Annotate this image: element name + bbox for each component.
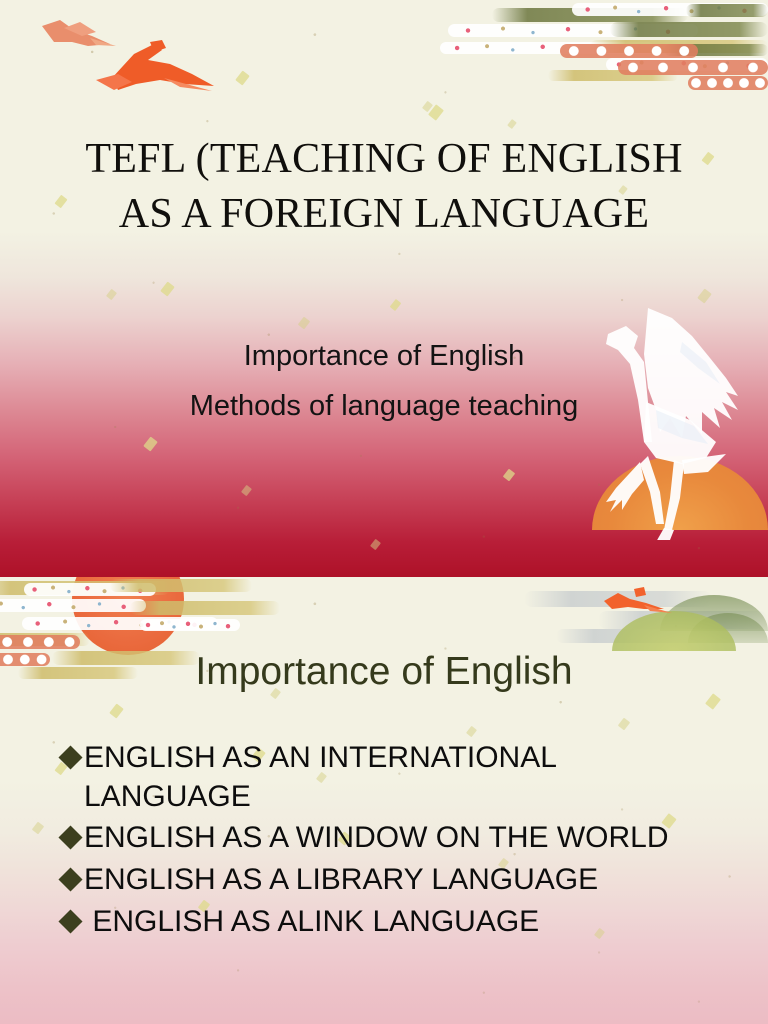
subtitle-line-2: Methods of language teaching xyxy=(0,382,768,432)
bullet-list: ENGLISH AS AN INTERNATIONAL LANGUAGE ENG… xyxy=(62,739,728,944)
list-item-label: ENGLISH AS AN INTERNATIONAL LANGUAGE xyxy=(84,739,728,816)
list-item: ENGLISH AS AN INTERNATIONAL LANGUAGE xyxy=(62,739,728,816)
slide-deck: TEFL (TEACHING OF ENGLISH AS A FOREIGN L… xyxy=(0,0,768,1024)
list-item: ENGLISH AS A WINDOW ON THE WORLD xyxy=(62,819,728,858)
slide-importance: Importance of English ENGLISH AS AN INTE… xyxy=(0,577,768,1024)
slide-title: TEFL (TEACHING OF ENGLISH AS A FOREIGN L… xyxy=(0,0,768,577)
diamond-bullet-icon xyxy=(58,745,82,769)
list-item: ENGLISH AS A LIBRARY LANGUAGE xyxy=(62,861,728,900)
list-item-label: ENGLISH AS A LIBRARY LANGUAGE xyxy=(84,861,598,900)
diamond-bullet-icon xyxy=(58,826,82,850)
list-item: ENGLISH AS ALINK LANGUAGE xyxy=(62,903,728,942)
diamond-bullet-icon xyxy=(58,868,82,892)
page-title: TEFL (TEACHING OF ENGLISH AS A FOREIGN L… xyxy=(0,132,768,242)
subtitle-line-1: Importance of English xyxy=(0,332,768,382)
title-block: TEFL (TEACHING OF ENGLISH AS A FOREIGN L… xyxy=(0,132,768,242)
list-item-label: ENGLISH AS ALINK LANGUAGE xyxy=(84,903,539,942)
page-title: Importance of English xyxy=(0,650,768,694)
subtitle-block: Importance of English Methods of languag… xyxy=(0,332,768,432)
slide-background-gradient xyxy=(0,0,768,577)
diamond-bullet-icon xyxy=(58,909,82,933)
list-item-label: ENGLISH AS A WINDOW ON THE WORLD xyxy=(84,819,669,858)
